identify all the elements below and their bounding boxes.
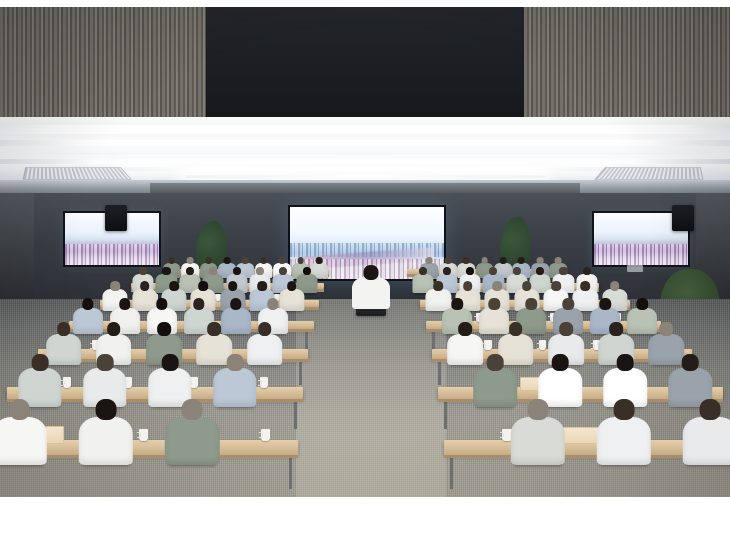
attendee-head: [297, 257, 304, 264]
attendee: [213, 354, 257, 409]
table-leg: [438, 359, 441, 385]
attendee-head: [256, 267, 264, 275]
attendee-head: [186, 267, 194, 275]
attendee-head: [169, 281, 179, 291]
attendee-head: [581, 281, 591, 291]
attendee-torso: [79, 417, 133, 465]
letterbox-bottom: [0, 497, 730, 548]
attendee-head: [609, 322, 623, 336]
conference-room-photo: [0, 7, 730, 497]
tea-mug: [139, 429, 148, 441]
attendee-head: [228, 281, 238, 291]
attendee-head: [57, 322, 71, 336]
attendee-head: [536, 267, 544, 275]
attendee-head: [466, 267, 474, 275]
attendee-head: [551, 281, 561, 291]
attendee-head: [242, 257, 249, 264]
attendee-torso: [0, 417, 47, 465]
ceiling-light-strip: [0, 159, 730, 164]
tea-mug: [261, 429, 270, 441]
attendee-head: [660, 322, 674, 336]
attendee-head: [559, 322, 573, 336]
tea-mug: [260, 377, 269, 388]
cityscape-band: [594, 244, 688, 265]
attendee: [165, 399, 219, 468]
tea-mug: [63, 377, 72, 388]
attendee-head: [97, 354, 114, 371]
attendee-head: [107, 322, 121, 336]
attendee-head: [258, 322, 272, 336]
attendee-head: [583, 267, 591, 275]
table-leg: [305, 329, 308, 351]
attendee: [597, 399, 651, 468]
wall-speaker-left: [105, 205, 127, 231]
attendee-head: [509, 322, 523, 336]
wall-return-left: [0, 193, 34, 303]
attendee: [511, 399, 565, 468]
hvac-vent-right: [594, 167, 703, 179]
namecard-text: [580, 433, 582, 438]
attendee-head: [182, 399, 203, 420]
wall-speaker-right: [672, 205, 694, 231]
center-aisle: [296, 299, 446, 497]
attendee-head: [489, 267, 497, 275]
namecard-front-right: [560, 427, 602, 444]
attendee-head: [513, 267, 521, 275]
attendee-head: [518, 257, 525, 264]
ceiling-light-strip: [0, 140, 730, 146]
attendee-head: [139, 267, 147, 275]
attendee-head: [617, 354, 634, 371]
attendee-head: [140, 281, 150, 291]
attendee-head: [555, 257, 562, 264]
attendee-head: [187, 257, 194, 264]
table-leg: [432, 329, 435, 351]
attendee-head: [536, 257, 543, 264]
attendee-head: [260, 257, 267, 264]
attendee-head: [364, 265, 379, 280]
table-leg: [294, 399, 297, 429]
wall-slat-panel-left: [0, 7, 206, 117]
attendee-head: [500, 257, 507, 264]
attendee-head: [481, 257, 488, 264]
attendee-head: [559, 267, 567, 275]
table-leg: [289, 455, 292, 489]
attendee-head: [199, 281, 209, 291]
tea-mug: [484, 340, 492, 350]
attendee-head: [95, 399, 116, 420]
cityscape-band: [65, 244, 159, 265]
attendee-head: [419, 267, 427, 275]
attendee-head: [168, 257, 175, 264]
attendee-head: [287, 281, 297, 291]
wall-slat-panel-right: [524, 7, 730, 117]
attendee-head: [614, 399, 635, 420]
wall-dark-center-panel: [206, 7, 524, 117]
ceiling-seam: [40, 153, 690, 154]
attendee-head: [487, 354, 504, 371]
letterbox-top: [0, 0, 730, 7]
attendee-head: [426, 257, 433, 264]
attendee-head: [209, 267, 217, 275]
attendee-torso: [597, 417, 651, 465]
attendee-torso: [165, 417, 219, 465]
wall-sign: [627, 265, 643, 272]
hvac-vent-left: [23, 167, 132, 179]
attendee-torso: [511, 417, 565, 465]
table-leg: [444, 399, 447, 429]
attendee-head: [162, 354, 179, 371]
attendee-torso: [683, 417, 730, 465]
attendee: [0, 399, 47, 468]
screen-watermark: [436, 212, 438, 217]
attendee-head: [9, 399, 30, 420]
attendee-head: [552, 354, 569, 371]
attendee-head: [227, 354, 244, 371]
attendee-head: [459, 322, 473, 336]
attendee-head: [443, 267, 451, 275]
attendee-head: [279, 257, 286, 264]
attendee-head: [610, 281, 620, 291]
attendee-head: [279, 267, 287, 275]
tea-mug: [539, 340, 547, 350]
attendee-head: [682, 354, 699, 371]
ceiling-light-strip: [185, 175, 545, 178]
attendee-head: [316, 257, 323, 264]
attendee-head: [110, 281, 120, 291]
attendee-head: [303, 267, 311, 275]
attendee-head: [444, 257, 451, 264]
attendee-head: [233, 267, 241, 275]
attendee-head: [257, 281, 267, 291]
table-leg: [299, 359, 302, 385]
attendee-head: [157, 322, 171, 336]
attendee-head: [205, 257, 212, 264]
attendee-head: [463, 257, 470, 264]
attendee-head: [463, 281, 473, 291]
attendee-head: [522, 281, 532, 291]
attendee-head: [527, 399, 548, 420]
table-leg: [450, 455, 453, 489]
ceiling-light-strip: [0, 125, 730, 134]
attendee-torso: [352, 277, 390, 309]
attendee-head: [162, 267, 170, 275]
attendee-head: [700, 399, 721, 420]
attendee: [79, 399, 133, 468]
attendee-head: [207, 322, 221, 336]
attendee: [683, 399, 730, 468]
ceiling-light-strip: [120, 167, 610, 171]
attendee-head: [32, 354, 49, 371]
front-row-attendee: [352, 265, 390, 309]
attendee-head: [224, 257, 231, 264]
screenshot-root: [0, 0, 730, 548]
attendee-head: [434, 281, 444, 291]
attendee-head: [492, 281, 502, 291]
attendee-torso: [213, 368, 257, 406]
